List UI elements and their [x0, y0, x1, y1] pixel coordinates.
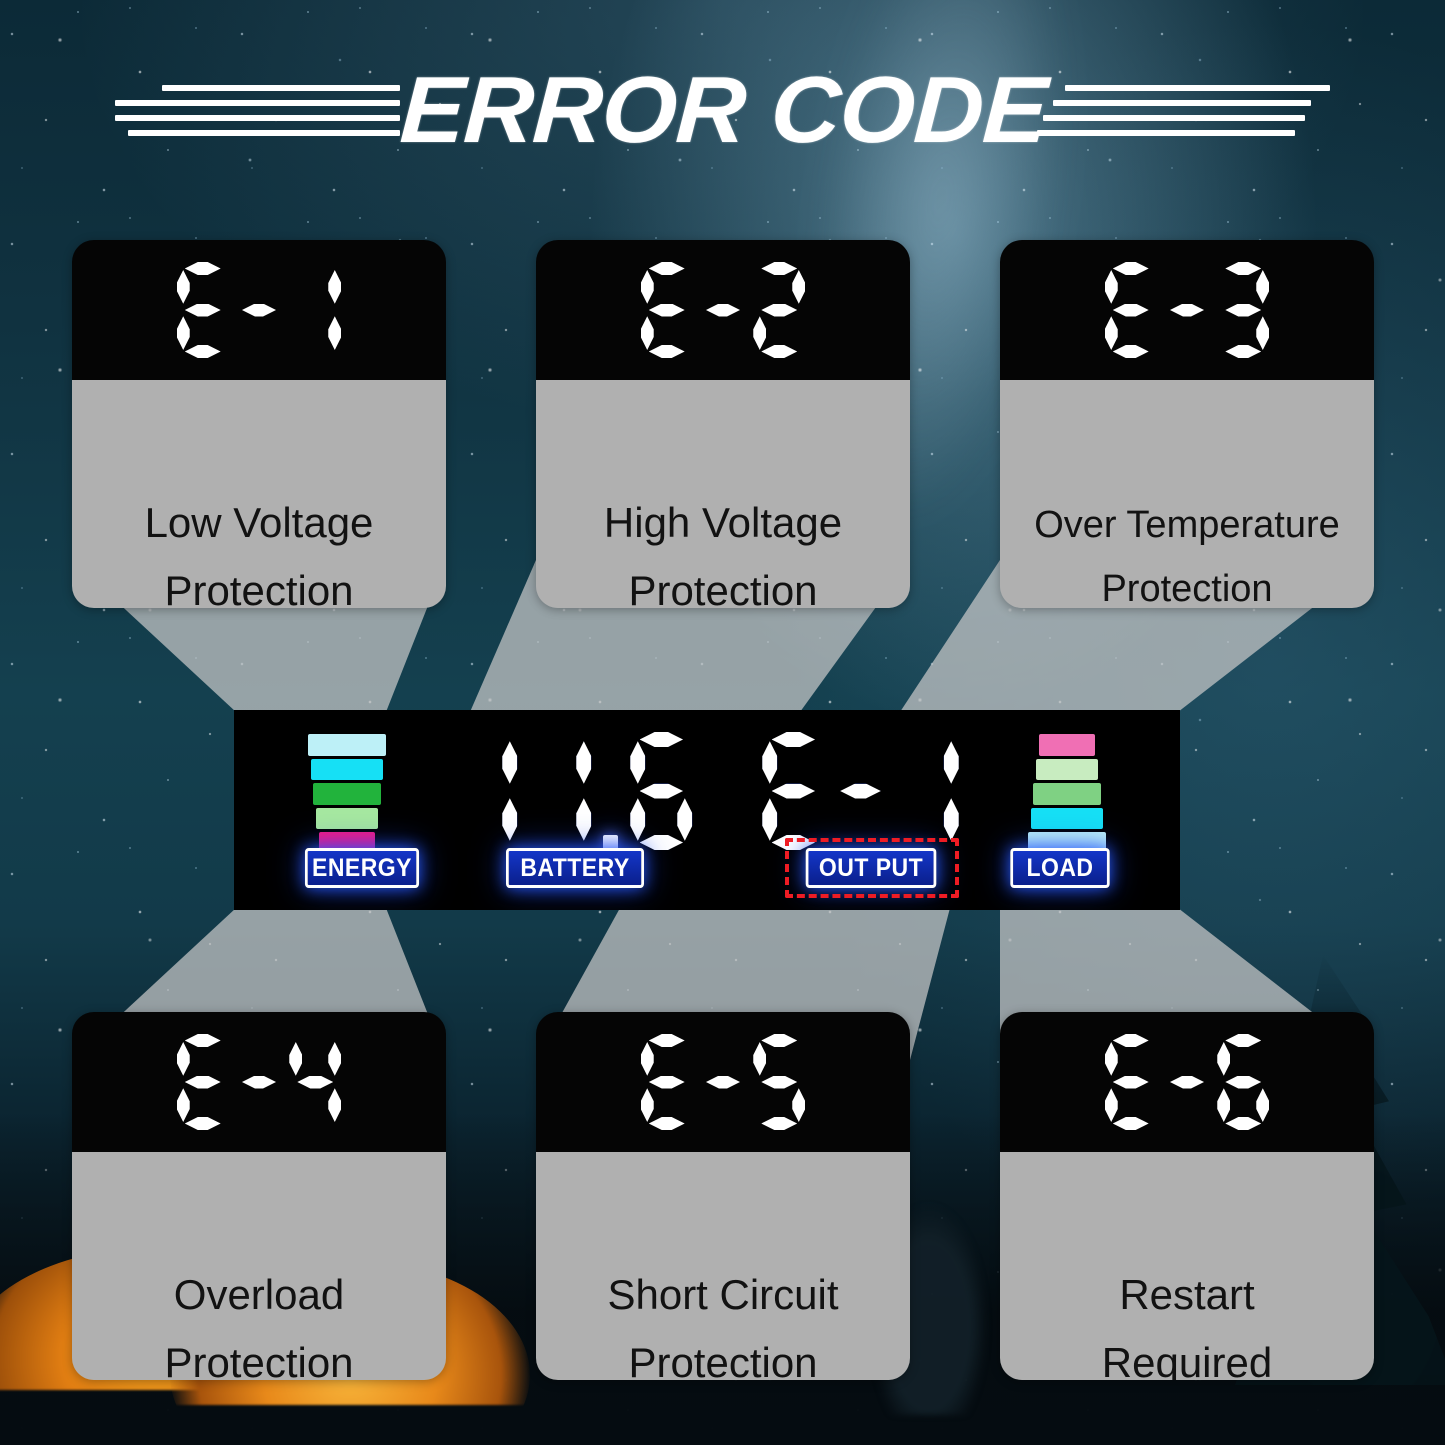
deco-line — [115, 100, 400, 106]
error-card-text-e6: Restart Required — [1000, 1152, 1374, 1380]
error-card-e2[interactable]: High Voltage Protection — [536, 240, 910, 608]
seven-segment-battery-value — [455, 732, 692, 850]
page-title: ERROR CODE — [398, 64, 1049, 156]
error-code-display-e2 — [536, 240, 910, 380]
seg-char — [1217, 262, 1269, 358]
error-card-text-e5: Short Circuit Protection — [536, 1152, 910, 1380]
output-highlight-box — [785, 838, 959, 898]
label-energy[interactable]: ENERGY — [305, 848, 419, 888]
error-card-line2: Protection — [1101, 570, 1272, 608]
seg-char — [177, 1034, 229, 1130]
seg-char — [753, 262, 805, 358]
seven-segment-error-value — [762, 732, 958, 850]
error-code-display-e4 — [72, 1012, 446, 1152]
seg-char — [762, 732, 824, 850]
seg-char — [177, 262, 229, 358]
seg-char — [289, 1034, 341, 1130]
title-deco-left — [115, 85, 400, 136]
error-card-line2: Protection — [164, 570, 353, 608]
lcd-readout — [234, 732, 1180, 850]
error-card-line2: Protection — [164, 1342, 353, 1380]
error-card-line1: Short Circuit — [607, 1274, 838, 1316]
error-card-text-e1: Low Voltage Protection — [72, 380, 446, 608]
seven-segment-e2 — [641, 262, 806, 358]
deco-line — [1043, 115, 1305, 121]
error-card-line1: Low Voltage — [145, 502, 374, 544]
error-card-e4[interactable]: Overload Protection — [72, 1012, 446, 1380]
seg-char — [641, 1034, 693, 1130]
label-battery[interactable]: BATTERY — [506, 848, 644, 888]
seven-segment-e4 — [177, 1034, 342, 1130]
device-lcd-panel[interactable]: ENERGY BATTERY OUT PUT LOAD — [234, 710, 1180, 910]
error-code-display-e1 — [72, 240, 446, 380]
error-card-line1: Over Temperature — [1034, 506, 1340, 544]
deco-line — [1065, 85, 1330, 91]
error-code-display-e3 — [1000, 240, 1374, 380]
seg-char — [703, 262, 744, 358]
title-deco-right — [1041, 85, 1330, 136]
seg-char — [1105, 1034, 1157, 1130]
deco-line — [162, 85, 400, 91]
deco-line — [128, 130, 400, 136]
error-card-text-e4: Overload Protection — [72, 1152, 446, 1380]
error-card-line1: Restart — [1119, 1274, 1254, 1316]
error-card-line2: Protection — [628, 570, 817, 608]
error-card-e5[interactable]: Short Circuit Protection — [536, 1012, 910, 1380]
error-card-text-e3: Over Temperature Protection — [1000, 380, 1374, 608]
error-card-e1[interactable]: Low Voltage Protection — [72, 240, 446, 608]
error-card-text-e2: High Voltage Protection — [536, 380, 910, 608]
seg-char — [703, 1034, 744, 1130]
seg-char — [641, 262, 693, 358]
error-card-line2: Required — [1102, 1342, 1272, 1380]
seg-char — [630, 732, 692, 850]
seg-char — [1167, 262, 1208, 358]
seg-char — [1167, 1034, 1208, 1130]
label-load[interactable]: LOAD — [1010, 848, 1109, 888]
error-card-e6[interactable]: Restart Required — [1000, 1012, 1374, 1380]
seg-char — [1217, 1034, 1269, 1130]
lcd-label-row: ENERGY BATTERY OUT PUT LOAD — [234, 848, 1180, 888]
seg-char — [897, 732, 959, 850]
seg-char — [455, 732, 517, 850]
seven-segment-e5 — [641, 1034, 806, 1130]
error-code-display-e6 — [1000, 1012, 1374, 1152]
seven-segment-e6 — [1105, 1034, 1270, 1130]
seg-char — [529, 732, 591, 850]
page-header: ERROR CODE — [0, 55, 1445, 165]
seg-char — [753, 1034, 805, 1130]
error-card-e3[interactable]: Over Temperature Protection — [1000, 240, 1374, 608]
error-card-line2: Protection — [628, 1342, 817, 1380]
error-card-line1: High Voltage — [604, 502, 842, 544]
error-card-line1: Overload — [174, 1274, 344, 1316]
deco-line — [1037, 130, 1295, 136]
seg-char — [239, 262, 280, 358]
error-code-display-e5 — [536, 1012, 910, 1152]
seven-segment-e1 — [177, 262, 342, 358]
seven-segment-e3 — [1105, 262, 1270, 358]
deco-line — [115, 115, 400, 121]
seg-char — [836, 732, 884, 850]
seg-char — [1105, 262, 1157, 358]
seg-char — [239, 1034, 280, 1130]
seg-char — [289, 262, 341, 358]
deco-line — [1053, 100, 1311, 106]
